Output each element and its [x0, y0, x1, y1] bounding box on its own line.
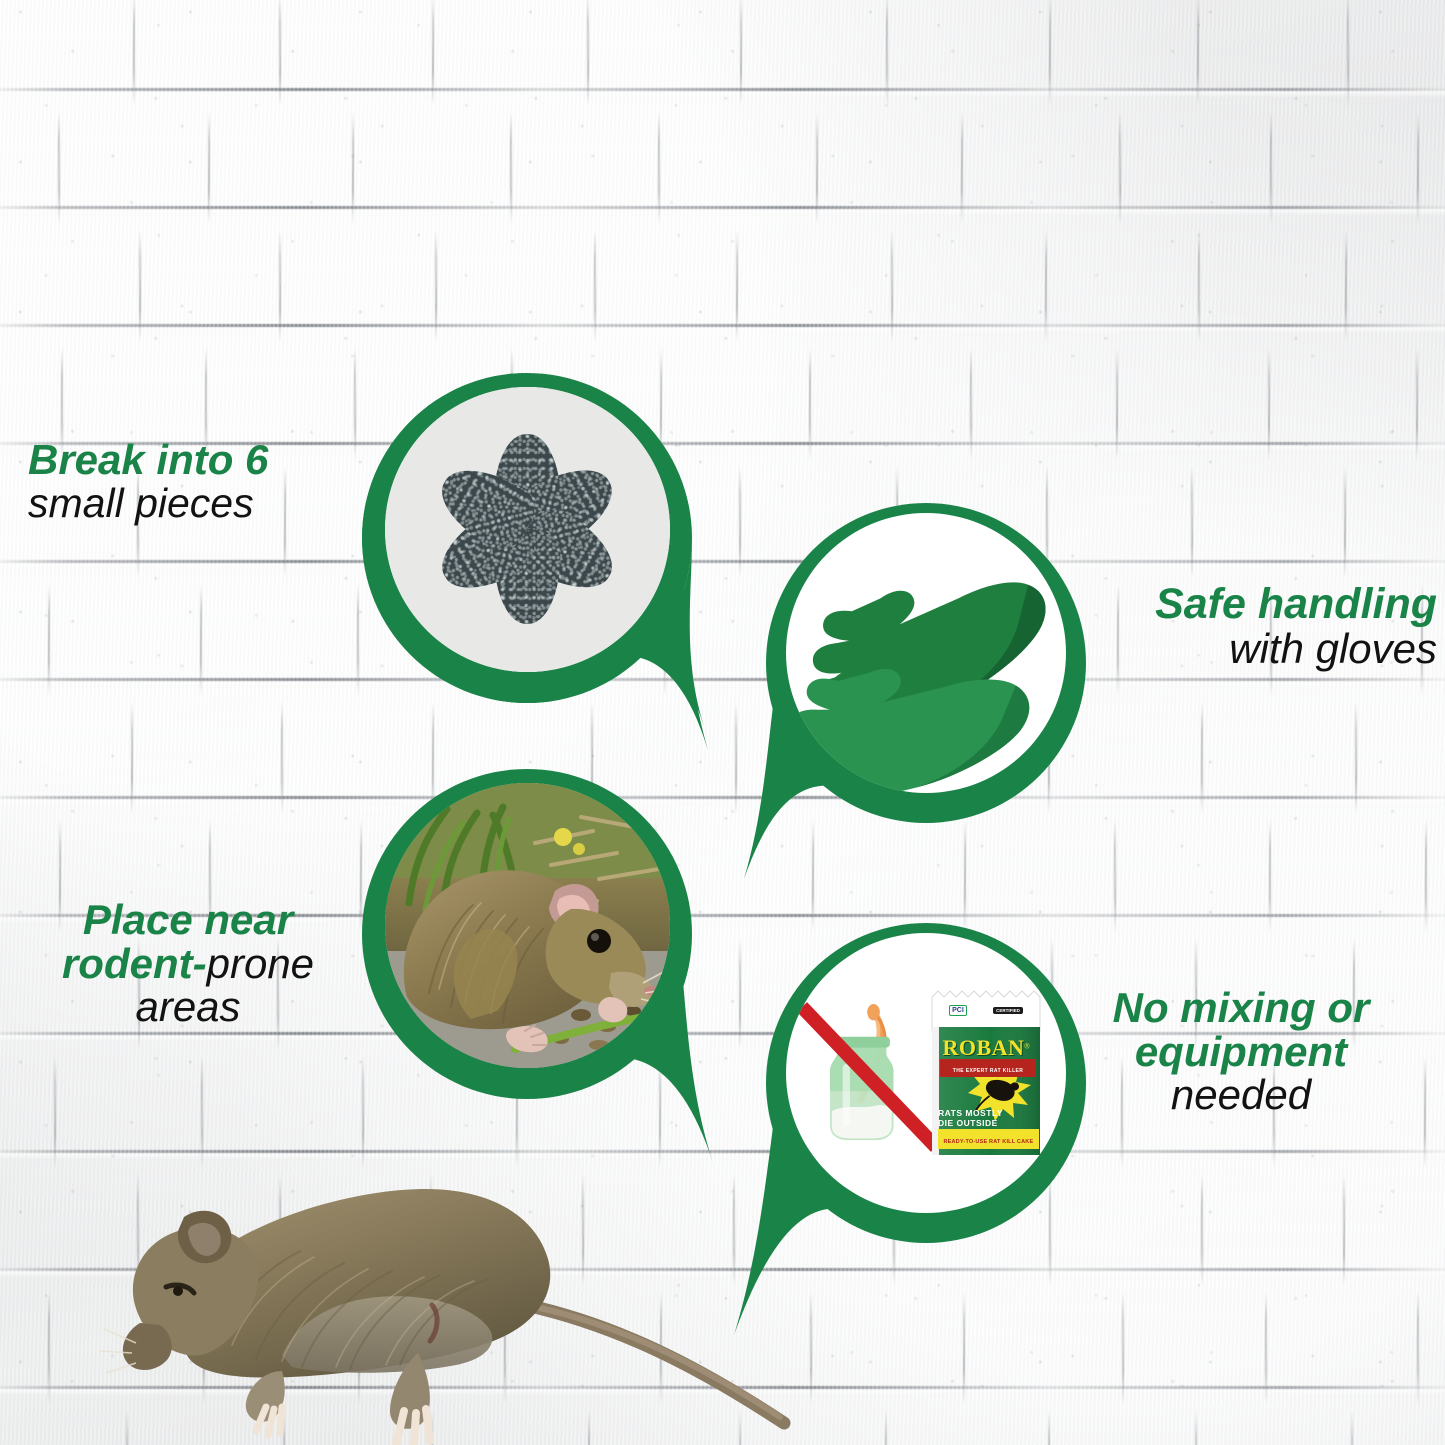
caption-gloves-green: Safe handling	[1017, 582, 1437, 627]
caption-place-green-2: rodent-	[62, 940, 207, 987]
cake-six-pieces-image	[385, 387, 670, 672]
caption-place: Place near rodent-prone areas	[18, 898, 358, 1029]
pack-pci-logo: PCI	[949, 1005, 967, 1016]
no-mixing-image: PCI CERTIFIED ROBAN® THE EXPERT RAT KILL…	[786, 933, 1066, 1213]
step-pin-nomix[interactable]: PCI CERTIFIED ROBAN® THE EXPERT RAT KILL…	[766, 915, 1086, 1235]
live-rat-photo	[385, 783, 670, 1068]
caption-nomix-green-1: No mixing or	[1041, 986, 1441, 1030]
caption-place-black-3: areas	[18, 985, 358, 1029]
pack-claim-1: RATS MOSTLY	[938, 1108, 1034, 1119]
caption-break: Break into 6 small pieces	[28, 438, 348, 524]
pack-footer-strip: READY-TO-USE RAT KILL CAKE	[943, 1139, 1033, 1145]
step-pin-break[interactable]	[362, 366, 692, 696]
pack-cert-badge: CERTIFIED	[993, 1007, 1023, 1014]
roban-product-pack: PCI CERTIFIED ROBAN® THE EXPERT RAT KILL…	[930, 987, 1042, 1159]
rat-eating-illustration	[385, 783, 670, 1068]
caption-nomix-green-2: equipment	[1041, 1030, 1441, 1074]
caption-break-black: small pieces	[28, 482, 348, 525]
no-mixing-jar-icon	[810, 1000, 928, 1146]
caption-place-green-1: Place near	[18, 898, 358, 942]
poster-root: PCI CERTIFIED ROBAN® THE EXPERT RAT KILL…	[0, 0, 1445, 1445]
pack-tagline: THE EXPERT RAT KILLER	[953, 1068, 1024, 1074]
pack-brand-reg: ®	[1024, 1044, 1029, 1051]
caption-place-black-2: prone	[207, 940, 314, 987]
step-pin-place[interactable]	[362, 762, 692, 1092]
pack-claim-2: DIE OUTSIDE	[938, 1118, 1034, 1129]
caption-nomix: No mixing or equipment needed	[1041, 986, 1441, 1117]
caption-gloves-black: with gloves	[1017, 627, 1437, 671]
caption-nomix-black: needed	[1041, 1073, 1441, 1117]
pack-brand: ROBAN	[942, 1035, 1024, 1060]
caption-gloves: Safe handling with gloves	[1017, 582, 1437, 670]
caption-break-green: Break into 6	[28, 438, 348, 482]
